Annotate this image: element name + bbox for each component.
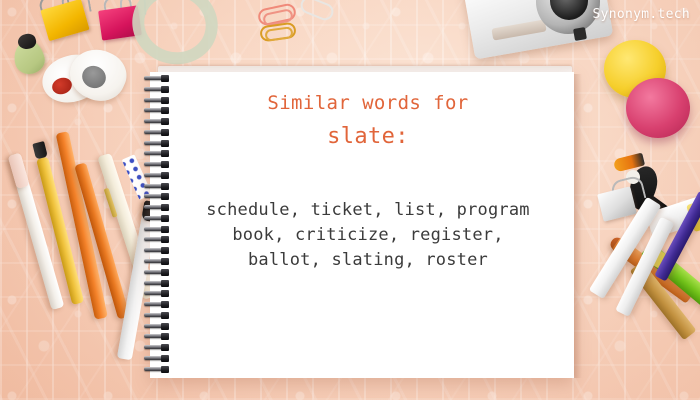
screenshot-root: Similar words for slate: schedule, ticke… bbox=[0, 0, 700, 400]
spiral-ring bbox=[144, 367, 172, 372]
spiral-ring bbox=[144, 356, 172, 361]
spiral-ring bbox=[144, 227, 172, 232]
synonym-row: schedule, ticket, list, program bbox=[176, 198, 560, 223]
site-watermark: Synonym.tech bbox=[592, 7, 690, 22]
spiral-ring bbox=[144, 194, 172, 199]
spiral-ring bbox=[144, 87, 172, 92]
spiral-ring bbox=[144, 281, 172, 286]
spiral-ring bbox=[144, 302, 172, 307]
notebook-spiral-binding bbox=[144, 76, 174, 372]
spiral-ring bbox=[144, 334, 172, 339]
synonym-row: ballot, slating, roster bbox=[176, 248, 560, 273]
spiral-ring bbox=[144, 98, 172, 103]
spiral-ring bbox=[144, 108, 172, 113]
spiral-ring bbox=[144, 162, 172, 167]
notebook-text-block: Similar words for slate: schedule, ticke… bbox=[176, 90, 560, 273]
spiral-ring bbox=[144, 141, 172, 146]
spiral-ring bbox=[144, 173, 172, 178]
spiral-ring bbox=[144, 324, 172, 329]
spiral-ring bbox=[144, 216, 172, 221]
page-title-line-2: slate: bbox=[176, 122, 560, 152]
page-title-line-1: Similar words for bbox=[176, 90, 560, 116]
spiral-ring bbox=[144, 345, 172, 350]
spiral-ring bbox=[144, 270, 172, 275]
synonym-row: book, criticize, register, bbox=[176, 223, 560, 248]
spiral-ring bbox=[144, 130, 172, 135]
spiral-ring bbox=[144, 248, 172, 253]
spiral-ring bbox=[144, 205, 172, 210]
spiral-ring bbox=[144, 291, 172, 296]
camera-flash-icon bbox=[573, 27, 587, 41]
spiral-ring bbox=[144, 184, 172, 189]
spiral-ring bbox=[144, 151, 172, 156]
spiral-ring bbox=[144, 76, 172, 81]
macaron-pink-icon bbox=[626, 78, 690, 138]
spiral-ring bbox=[144, 237, 172, 242]
spiral-ring bbox=[144, 313, 172, 318]
spiral-ring bbox=[144, 259, 172, 264]
synonym-list: schedule, ticket, list, program book, cr… bbox=[176, 198, 560, 273]
spiral-ring bbox=[144, 119, 172, 124]
